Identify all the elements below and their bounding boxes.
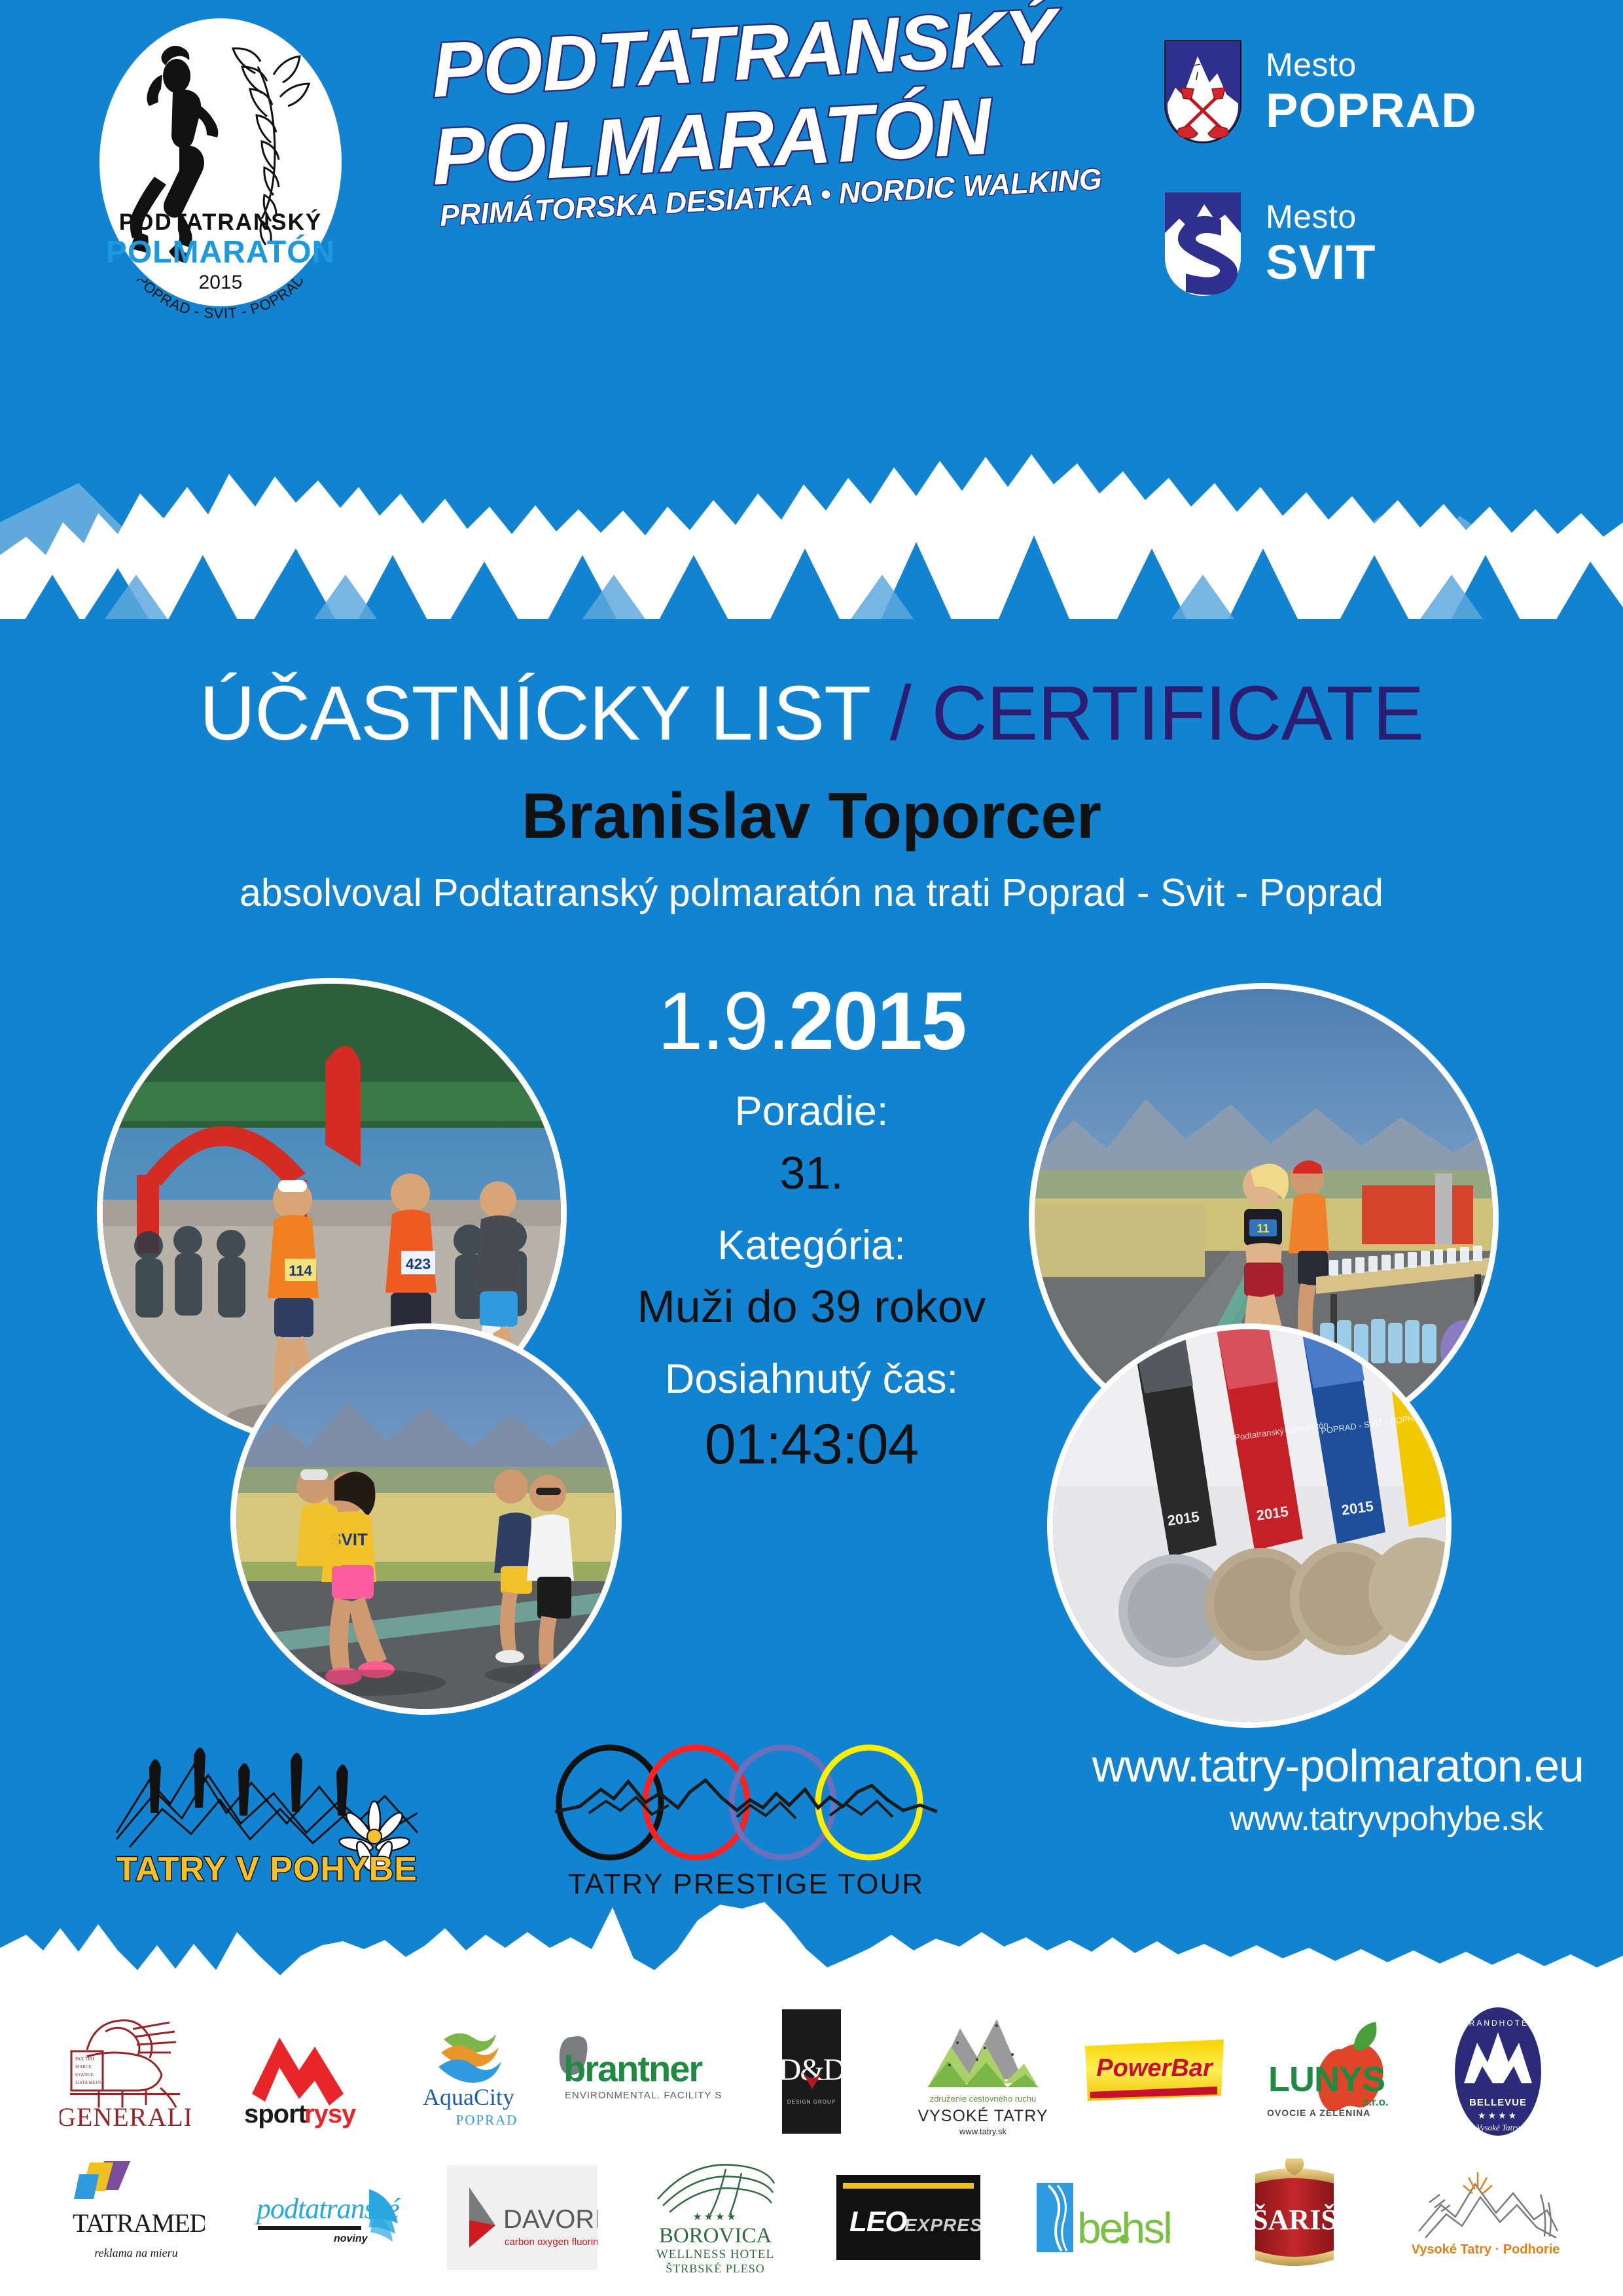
saris-icon: ŠARIŠ (1249, 2159, 1340, 2276)
svg-text:★★★★: ★★★★ (692, 2212, 738, 2223)
powerbar-icon: PowerBar (1082, 2036, 1226, 2108)
sponsor-tatramedia-sub: reklama na mieru (94, 2246, 177, 2259)
event-emblem: PODTATRANSKÝ POLMARATÓN 2015 POPRAD - SV… (99, 18, 342, 306)
sponsor-powerbar: PowerBar (1069, 2003, 1240, 2140)
svg-text:sport: sport (244, 2100, 307, 2128)
lunys-apple-icon: LUNYS s.r.o. OVOCIE A ZELENINA (1258, 2013, 1395, 2130)
sponsor-bellevue-label: BELLEVUE (1469, 2097, 1527, 2108)
sponsor-brantner: brantner ENVIRONMENTAL. FACILITY SERVICE… (554, 2003, 726, 2140)
svg-text:11: 11 (1257, 1222, 1269, 1235)
sponsor-borovica-sub2: ŠTRBSKÉ PLESO (666, 2261, 765, 2275)
city-prefix-poprad: Mesto (1266, 48, 1477, 81)
sponsor-powerbar-label: PowerBar (1097, 2054, 1215, 2082)
brantner-wordmark-icon: brantner ENVIRONMENTAL. FACILITY SERVICE… (558, 2029, 722, 2114)
sponsor-aquacity-label: AquaCity (423, 2084, 514, 2110)
sponsor-dd-design: D&D DESIGN GROUP (726, 2003, 897, 2140)
sponsor-tatramedia-label: TATRAMEDIA (73, 2208, 205, 2238)
svit-crest-icon (1164, 191, 1242, 296)
sponsor-brantner-label: brantner (563, 2048, 702, 2089)
emblem-line1: PODTATRANSKÝ (99, 209, 342, 236)
leo-express-icon: LEO EXPRESS (836, 2175, 980, 2260)
vysoke-tatry-podhorie-icon: Vysoké Tatry · Podhorie (1412, 2168, 1563, 2267)
sponsor-lunys: LUNYS s.r.o. OVOCIE A ZELENINA (1241, 2003, 1412, 2140)
tatramedia-icon: TATRAMEDIA reklama na mieru (67, 2159, 205, 2276)
behsk-icon: behsk (1033, 2175, 1170, 2260)
sponsor-row-1: PAX TIBIMARCE EVANGELISTA MEUS GENERALI … (39, 2003, 1584, 2140)
emblem-line2: POLMARATÓN (99, 234, 342, 270)
runner-name: Branislav Toporcer (0, 779, 1623, 853)
photo-medals-illustration: 2015 2015 2015 Podtatranský polmaratón P… (1053, 1329, 1446, 1722)
sponsor-express-label: EXPRESS (904, 2215, 980, 2235)
photo-runners-svit: SVIT (230, 1323, 622, 1715)
tatry-v-pohybe-label: TATRY V POHYBE (116, 1850, 418, 1889)
tatry-prestige-tour-label: TATRY PRESTIGE TOUR (550, 1868, 942, 1901)
tatry-v-pohybe-logo: TATRY V POHYBE (110, 1741, 450, 1892)
generali-lion-icon: PAX TIBIMARCE EVANGELISTA MEUS GENERALI (60, 2009, 190, 2134)
sponsor-tatramedia: TATRAMEDIA reklama na mieru (39, 2152, 232, 2283)
sponsor-podtatranske-noviny: podtatranské noviny (232, 2152, 425, 2283)
sponsor-bellevue-sub: Vysoké Tatry (1476, 2123, 1520, 2132)
sponsor-davorin-sub: carbon oxygen fluorine (505, 2236, 597, 2248)
certificate-subline: absolvoval Podtatranský polmaratón na tr… (0, 870, 1623, 915)
sponsor-lunys-label: LUNYS (1268, 2060, 1385, 2099)
borovica-icon: BOROVICA ★★★★ WELLNESS HOTEL ŠTRBSKÉ PLE… (650, 2159, 781, 2276)
sponsor-borovica-label: BOROVICA (658, 2224, 772, 2248)
city-name-poprad: POPRAD (1266, 86, 1477, 135)
emblem-route-arc: POPRAD - SVIT - POPRAD (99, 279, 342, 318)
event-date-day-month: 1.9. (658, 976, 789, 1067)
primary-url[interactable]: www.tatry-polmaraton.eu (969, 1741, 1584, 1791)
sponsor-podtatranske-sub: noviny (334, 2233, 368, 2244)
heading-separator: / (869, 670, 931, 757)
sponsor-vysoke-tatry-url: www.tatry.sk (959, 2126, 1007, 2136)
rank-label: Poradie: (484, 1089, 1139, 1134)
mountain-silhouette-band (0, 359, 1623, 628)
sponsor-saris-label: ŠARIŠ (1252, 2203, 1337, 2236)
vysoke-tatry-mountain-icon: združenie cestovného ruchu VYSOKÉ TATRY … (914, 2006, 1052, 2137)
svg-text:MARCE: MARCE (75, 2064, 92, 2070)
sponsor-leo-label: LEO (849, 2206, 907, 2238)
poprad-crest-icon (1164, 39, 1242, 144)
tatry-prestige-tour-logo: TATRY PRESTIGE TOUR (550, 1742, 942, 1899)
sponsor-davorin: DAVORIN carbon oxygen fluorine (425, 2152, 618, 2283)
city-prefix-svit: Mesto (1266, 200, 1376, 233)
svg-text:423: 423 (406, 1255, 431, 1272)
davorin-icon: DAVORIN carbon oxygen fluorine (447, 2165, 597, 2270)
sponsor-behsk: behsk (1005, 2152, 1198, 2283)
sponsor-aquacity: AquaCity POPRAD (382, 2003, 554, 2140)
event-date: 1.9.2015 (484, 978, 1139, 1064)
sponsor-saris: ŠARIŠ (1198, 2152, 1391, 2283)
sponsor-leo-express: LEO EXPRESS (811, 2152, 1005, 2283)
city-name-svit: SVIT (1266, 238, 1376, 287)
svg-text:★★★★: ★★★★ (1478, 2110, 1518, 2121)
sponsor-generali: PAX TIBIMARCE EVANGELISTA MEUS GENERALI (39, 2003, 211, 2140)
sponsor-vysoke-tatry-podhorie: Vysoké Tatry · Podhorie (1391, 2152, 1584, 2283)
sponsor-podhorie-label: Vysoké Tatry · Podhorie (1412, 2242, 1560, 2257)
sponsor-vysoke-tatry: združenie cestovného ruchu VYSOKÉ TATRY … (897, 2003, 1069, 2140)
sponsor-vysoke-tatry-sub: združenie cestovného ruchu (930, 2094, 1037, 2104)
svg-text:114: 114 (289, 1263, 312, 1279)
photo-runners-svit-illustration: SVIT (236, 1329, 616, 1709)
svg-text:PAX TIBI: PAX TIBI (75, 2056, 94, 2062)
event-title: PODTATRANSKÝ POLMARATÓN PRIMÁTORSKA DESI… (432, 21, 1126, 165)
aquacity-wave-icon: AquaCity POPRAD (403, 2009, 534, 2134)
sponsor-brantner-sub: ENVIRONMENTAL. FACILITY SERVICES (565, 2090, 722, 2101)
sponsor-grandhotel-bellevue: BELLEVUE ★★★★ Vysoké Tatry GRANDHOTEL (1412, 2003, 1584, 2140)
tatry-prestige-rings-icon (550, 1742, 942, 1873)
header: PODTATRANSKÝ POLMARATÓN 2015 POPRAD - SV… (0, 0, 1623, 367)
podtatranske-noviny-icon: podtatranské noviny (254, 2175, 404, 2260)
svg-text:POPRAD - SVIT - POPRAD: POPRAD - SVIT - POPRAD (134, 279, 308, 318)
sponsor-behsk-label: behsk (1077, 2204, 1170, 2252)
city-logo-svit: Mesto SVIT (1164, 191, 1376, 296)
event-date-year: 2015 (789, 976, 965, 1067)
secondary-url[interactable]: www.tatryvpohybe.sk (969, 1801, 1543, 1838)
website-links: www.tatry-polmaraton.eu www.tatryvpohybe… (969, 1741, 1584, 1838)
sportrysy-peak-icon: sport rysy (231, 2013, 362, 2130)
certificate-heading: ÚČASTNÍCKY LIST / CERTIFICATE (0, 669, 1623, 758)
sponsor-generali-label: GENERALI (60, 2102, 190, 2132)
photo-medals: 2015 2015 2015 Podtatranský polmaratón P… (1047, 1323, 1452, 1728)
city-logo-poprad: Mesto POPRAD (1164, 39, 1477, 144)
sponsor-sportrysy: sport rysy (211, 2003, 382, 2140)
sponsor-borovica-sub: WELLNESS HOTEL (656, 2248, 774, 2261)
sponsor-row-2: TATRAMEDIA reklama na mieru podtatranské… (39, 2152, 1584, 2283)
sponsor-davorin-label: DAVORIN (503, 2205, 597, 2234)
time-label: Dosiahnutý čas: (484, 1357, 1139, 1402)
certificate-page: PODTATRANSKÝ POLMARATÓN 2015 POPRAD - SV… (0, 0, 1623, 2296)
sponsor-vysoke-tatry-label: VYSOKÉ TATRY (918, 2106, 1048, 2125)
sponsor-borovica: BOROVICA ★★★★ WELLNESS HOTEL ŠTRBSKÉ PLE… (618, 2152, 811, 2283)
svg-text:DESIGN GROUP: DESIGN GROUP (787, 2099, 836, 2105)
heading-english: CERTIFICATE (931, 670, 1423, 757)
grandhotel-bellevue-icon: BELLEVUE ★★★★ Vysoké Tatry GRANDHOTEL (1452, 2006, 1544, 2137)
svg-text:rysy: rysy (304, 2100, 357, 2128)
heading-slovak: ÚČASTNÍCKY LIST (200, 670, 869, 757)
svg-text:LISTA MEUS: LISTA MEUS (75, 2080, 101, 2085)
sponsor-lunys-sub: OVOCIE A ZELENINA (1267, 2108, 1370, 2118)
svg-text:GRANDHOTEL: GRANDHOTEL (1461, 2018, 1535, 2028)
sponsor-strip: PAX TIBIMARCE EVANGELISTA MEUS GENERALI … (0, 1990, 1623, 2296)
sponsor-aquacity-sub: POPRAD (455, 2112, 518, 2128)
sponsor-lunys-sro: s.r.o. (1363, 2096, 1389, 2108)
dd-design-icon: D&D DESIGN GROUP (782, 2009, 841, 2134)
svg-text:EVANGE: EVANGE (75, 2072, 94, 2077)
